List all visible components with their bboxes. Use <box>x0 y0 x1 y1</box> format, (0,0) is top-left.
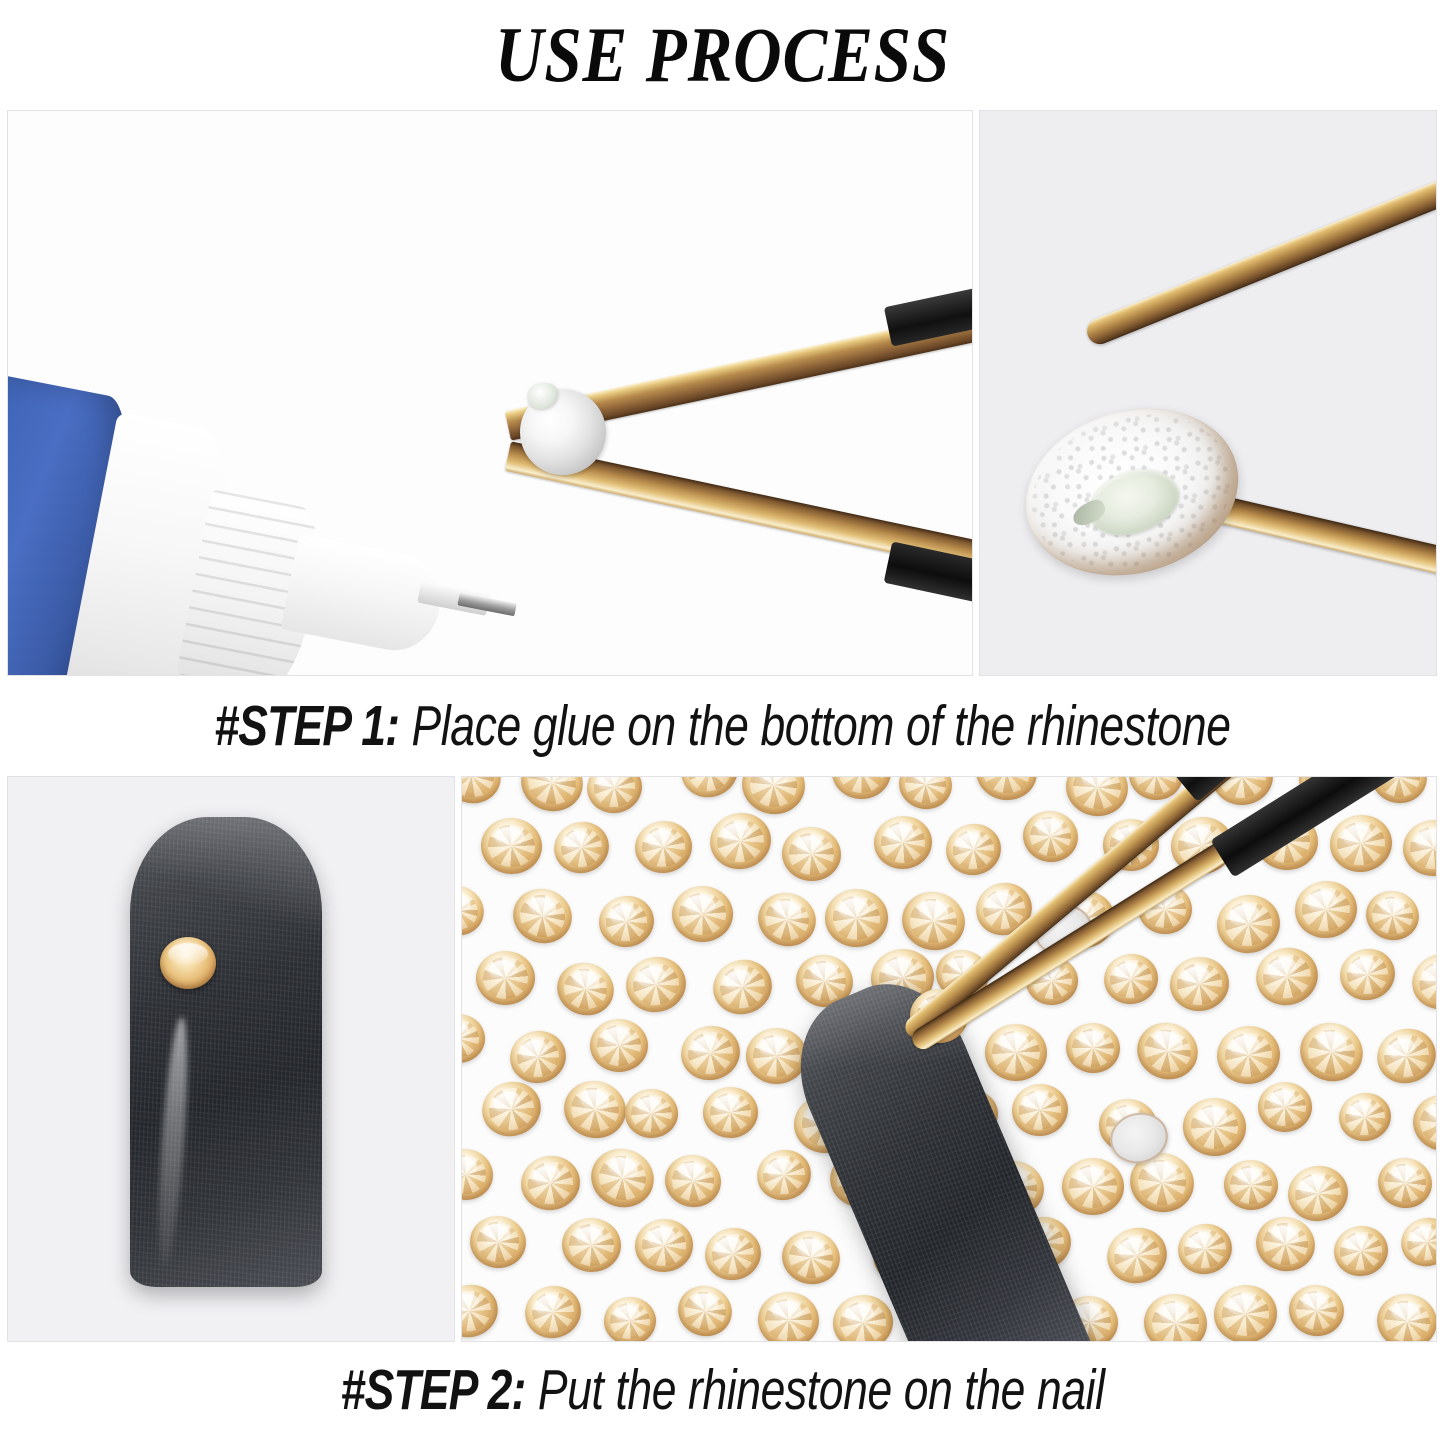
scattered-rhinestone <box>1285 1281 1348 1341</box>
step-1-photo-row: B O <box>0 110 1445 676</box>
scattered-rhinestone <box>1405 946 1437 1018</box>
scattered-rhinestone <box>706 952 779 1022</box>
scattered-rhinestone <box>1100 1220 1174 1291</box>
scattered-rhinestone <box>1374 1154 1436 1213</box>
panel-glue-bottle: B O <box>7 110 973 676</box>
scattered-rhinestone <box>896 885 972 957</box>
page-title: USE PROCESS <box>495 16 950 94</box>
glue-bottle: B O <box>7 359 381 676</box>
scattered-rhinestone <box>595 891 659 952</box>
scattered-rhinestone <box>476 950 536 1005</box>
scattered-rhinestone <box>519 1279 587 1342</box>
scattered-rhinestone <box>1062 1157 1125 1215</box>
scattered-rhinestone <box>1283 1160 1353 1226</box>
scattered-rhinestone <box>1370 1021 1437 1091</box>
scattered-rhinestone <box>467 1212 530 1271</box>
scattered-rhinestone <box>746 1028 807 1084</box>
scattered-rhinestone <box>1172 1218 1237 1280</box>
scattered-rhinestone <box>558 1074 632 1144</box>
scattered-rhinestone <box>1334 942 1401 1006</box>
scattered-rhinestone <box>1293 1015 1371 1090</box>
scattered-rhinestone <box>582 776 646 818</box>
scattered-rhinestone <box>461 1014 485 1063</box>
scattered-rhinestone <box>752 886 823 954</box>
scattered-rhinestone <box>780 825 843 884</box>
scattered-rhinestone <box>1361 885 1424 945</box>
step-2-photo-row <box>0 776 1445 1342</box>
scattered-rhinestone <box>751 1144 817 1207</box>
scattered-rhinestone <box>984 1023 1048 1082</box>
scattered-rhinestone <box>1372 1289 1437 1342</box>
scattered-rhinestone <box>832 776 891 799</box>
scattered-rhinestone <box>1064 1020 1123 1075</box>
rhinestone-facet-highlight <box>168 943 208 965</box>
scattered-rhinestone <box>830 1292 895 1342</box>
scattered-rhinestone <box>516 1151 584 1215</box>
tweezers-upper-arm <box>1083 163 1437 348</box>
scattered-rhinestone <box>1326 811 1395 876</box>
step-1-caption: #STEP 1: Place glue on the bottom of the… <box>0 676 1445 776</box>
scattered-rhinestone <box>584 1141 662 1216</box>
scattered-rhinestone <box>1212 890 1284 958</box>
scattered-rhinestone <box>824 888 889 948</box>
scattered-rhinestone <box>1141 1290 1211 1342</box>
scattered-rhinestone <box>461 878 491 942</box>
panel-rhinestone-closeup <box>979 110 1437 676</box>
scattered-rhinestone <box>475 1074 548 1144</box>
scattered-rhinestone <box>1062 776 1133 821</box>
scattered-rhinestone <box>1395 1211 1437 1273</box>
scattered-rhinestone <box>1214 1022 1284 1087</box>
scattered-rhinestone <box>776 1225 845 1290</box>
scattered-rhinestone <box>661 1150 726 1212</box>
scattered-rhinestone <box>590 1018 649 1072</box>
scattered-rhinestone <box>507 882 579 950</box>
scattered-rhinestone <box>872 814 934 871</box>
scattered-rhinestone <box>1167 953 1233 1015</box>
step-2-caption: #STEP 2: Put the rhinestone on the nail <box>0 1342 1445 1438</box>
scattered-rhinestone <box>560 1216 623 1274</box>
scattered-rhinestone <box>603 1296 657 1342</box>
scattered-rhinestone <box>514 776 590 819</box>
scattered-rhinestone <box>505 1025 572 1089</box>
scattered-rhinestone <box>705 807 776 874</box>
scattered-rhinestone <box>621 951 692 1018</box>
scattered-rhinestone <box>675 1020 745 1087</box>
panel-finished-nail <box>7 776 455 1342</box>
scattered-rhinestone <box>550 955 621 1023</box>
scattered-rhinestone <box>1330 1221 1393 1280</box>
scattered-rhinestone <box>702 1086 760 1140</box>
scattered-rhinestone <box>1292 877 1360 941</box>
scattered-rhinestone <box>625 1089 679 1139</box>
scattered-rhinestone <box>461 776 508 811</box>
scattered-rhinestone <box>632 817 696 876</box>
scattered-rhinestone <box>1182 1097 1247 1157</box>
scattered-rhinestone <box>672 886 733 942</box>
scattered-rhinestone <box>1335 1088 1396 1146</box>
scattered-rhinestone <box>672 1279 738 1342</box>
scattered-rhinestone <box>1221 1157 1281 1213</box>
scattered-rhinestone <box>1130 1015 1206 1088</box>
scattered-rhinestone <box>972 776 1042 805</box>
scattered-rhinestone <box>480 816 544 875</box>
scattered-rhinestone <box>1019 806 1083 867</box>
scattered-rhinestone <box>1100 949 1163 1008</box>
page-header: USE PROCESS <box>0 0 1445 110</box>
scattered-rhinestone <box>1401 817 1437 878</box>
scattered-rhinestone <box>700 1222 767 1286</box>
scattered-rhinestone <box>1212 1283 1279 1342</box>
scattered-rhinestone <box>1009 1080 1072 1139</box>
scattered-rhinestone <box>1258 1082 1313 1133</box>
step-1-label: #STEP 1: <box>214 694 399 758</box>
scattered-rhinestone <box>894 776 956 814</box>
scattered-rhinestone <box>756 1290 821 1342</box>
scattered-rhinestone <box>461 1277 505 1342</box>
scattered-rhinestone <box>941 819 1005 880</box>
scattered-rhinestone <box>674 776 745 805</box>
step-1-description: Place glue on the bottom of the rhinesto… <box>412 694 1231 758</box>
scattered-rhinestone <box>548 815 616 880</box>
scattered-rhinestone <box>633 1217 695 1275</box>
panel-applying-rhinestone <box>461 776 1437 1342</box>
scattered-rhinestone <box>1408 1089 1437 1156</box>
scattered-rhinestone <box>1249 941 1324 1013</box>
scattered-rhinestone <box>461 1146 496 1203</box>
